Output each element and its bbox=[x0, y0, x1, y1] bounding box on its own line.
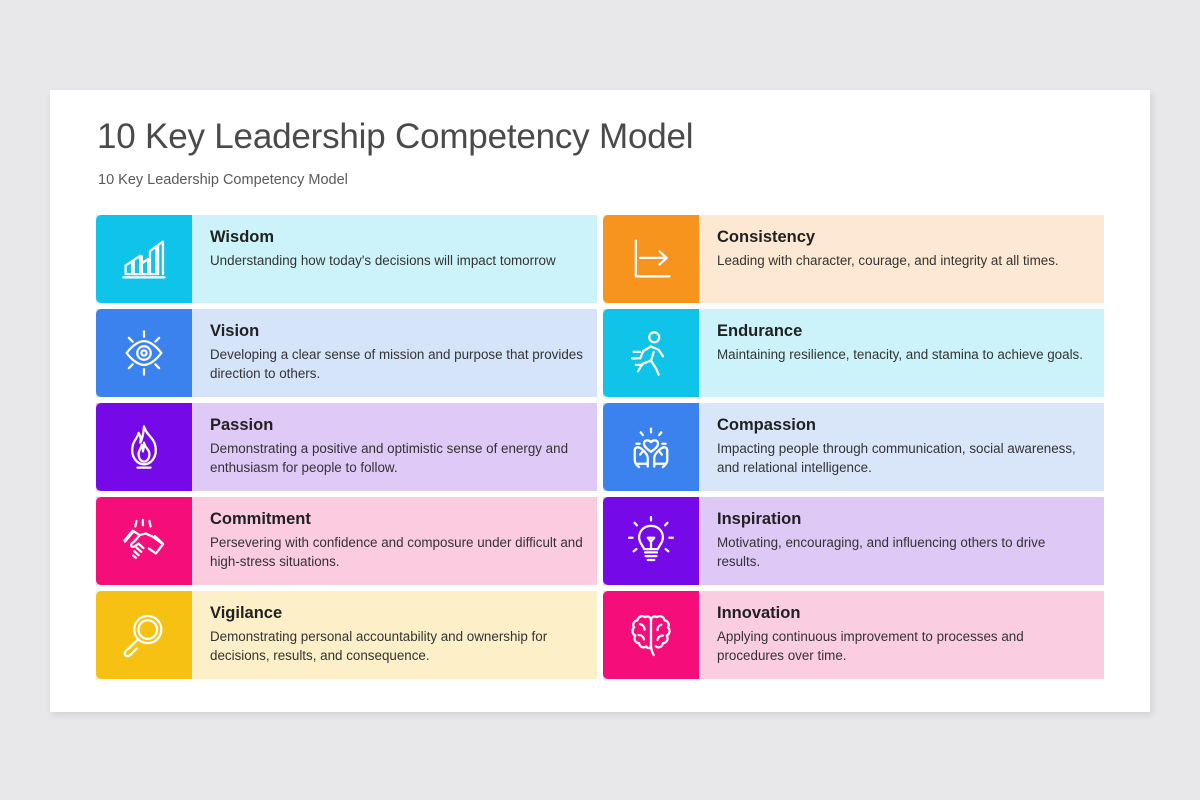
lightbulb-icon bbox=[603, 497, 699, 585]
competency-title: Passion bbox=[210, 416, 583, 435]
competency-description: Leading with character, courage, and int… bbox=[717, 251, 1090, 270]
competency-card-body: WisdomUnderstanding how today's decision… bbox=[192, 215, 597, 303]
competency-title: Compassion bbox=[717, 416, 1090, 435]
competency-card[interactable]: PassionDemonstrating a positive and opti… bbox=[96, 403, 597, 491]
competency-description: Demonstrating personal accountability an… bbox=[210, 627, 583, 665]
competency-title: Vision bbox=[210, 322, 583, 341]
hands-heart-icon bbox=[603, 403, 699, 491]
competency-card-body: InnovationApplying continuous improvemen… bbox=[699, 591, 1104, 679]
competency-description: Maintaining resilience, tenacity, and st… bbox=[717, 345, 1090, 364]
competency-description: Motivating, encouraging, and influencing… bbox=[717, 533, 1090, 571]
competency-card[interactable]: ConsistencyLeading with character, coura… bbox=[603, 215, 1104, 303]
competency-title: Inspiration bbox=[717, 510, 1090, 529]
competency-card-body: CommitmentPersevering with confidence an… bbox=[192, 497, 597, 585]
competency-card[interactable]: EnduranceMaintaining resilience, tenacit… bbox=[603, 309, 1104, 397]
competency-card-body: EnduranceMaintaining resilience, tenacit… bbox=[699, 309, 1104, 397]
competency-card[interactable]: CommitmentPersevering with confidence an… bbox=[96, 497, 597, 585]
competency-card[interactable]: VigilanceDemonstrating personal accounta… bbox=[96, 591, 597, 679]
competency-title: Endurance bbox=[717, 322, 1090, 341]
competency-card[interactable]: VisionDeveloping a clear sense of missio… bbox=[96, 309, 597, 397]
competency-card-body: ConsistencyLeading with character, coura… bbox=[699, 215, 1104, 303]
bar-chart-icon bbox=[96, 215, 192, 303]
competency-description: Impacting people through communication, … bbox=[717, 439, 1090, 477]
flame-icon bbox=[96, 403, 192, 491]
competency-card[interactable]: InnovationApplying continuous improvemen… bbox=[603, 591, 1104, 679]
competency-title: Innovation bbox=[717, 604, 1090, 623]
magnifier-icon bbox=[96, 591, 192, 679]
competency-card-body: VisionDeveloping a clear sense of missio… bbox=[192, 309, 597, 397]
competency-card[interactable]: InspirationMotivating, encouraging, and … bbox=[603, 497, 1104, 585]
competency-card[interactable]: CompassionImpacting people through commu… bbox=[603, 403, 1104, 491]
competency-description: Understanding how today's decisions will… bbox=[210, 251, 583, 270]
running-person-icon bbox=[603, 309, 699, 397]
competency-card-body: VigilanceDemonstrating personal accounta… bbox=[192, 591, 597, 679]
handshake-icon bbox=[96, 497, 192, 585]
competency-card-body: CompassionImpacting people through commu… bbox=[699, 403, 1104, 491]
competency-title: Vigilance bbox=[210, 604, 583, 623]
competency-card-grid: WisdomUnderstanding how today's decision… bbox=[96, 215, 1104, 679]
page-subtitle: 10 Key Leadership Competency Model bbox=[98, 172, 348, 188]
radiant-eye-icon bbox=[96, 309, 192, 397]
page-title: 10 Key Leadership Competency Model bbox=[97, 117, 693, 157]
competency-title: Commitment bbox=[210, 510, 583, 529]
competency-description: Persevering with confidence and composur… bbox=[210, 533, 583, 571]
competency-description: Applying continuous improvement to proce… bbox=[717, 627, 1090, 665]
slide-panel: 10 Key Leadership Competency Model 10 Ke… bbox=[50, 90, 1150, 712]
competency-description: Demonstrating a positive and optimistic … bbox=[210, 439, 583, 477]
competency-card[interactable]: WisdomUnderstanding how today's decision… bbox=[96, 215, 597, 303]
competency-card-body: PassionDemonstrating a positive and opti… bbox=[192, 403, 597, 491]
brain-icon bbox=[603, 591, 699, 679]
competency-card-body: InspirationMotivating, encouraging, and … bbox=[699, 497, 1104, 585]
competency-title: Consistency bbox=[717, 228, 1090, 247]
competency-description: Developing a clear sense of mission and … bbox=[210, 345, 583, 383]
axis-arrow-icon bbox=[603, 215, 699, 303]
competency-title: Wisdom bbox=[210, 228, 583, 247]
